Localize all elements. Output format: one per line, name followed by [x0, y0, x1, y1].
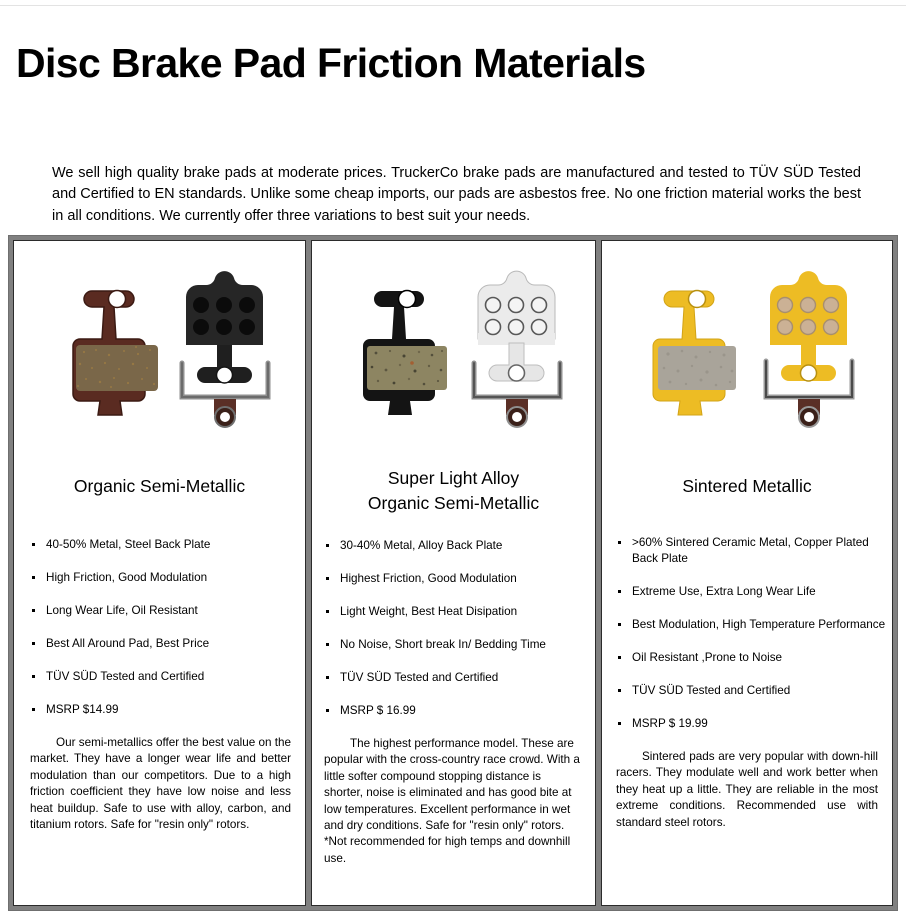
spec-item: 30-40% Metal, Alloy Back Plate [324, 538, 595, 554]
product-heading-line: Organic Semi-Metallic [14, 474, 305, 499]
brake-pad-illustration-sintered [602, 251, 892, 456]
product-card-sintered-metallic[interactable]: Sintered Metallic >60% Sintered Ceramic … [601, 240, 893, 906]
product-heading-line: Sintered Metallic [602, 474, 892, 499]
page-title: Disc Brake Pad Friction Materials [16, 39, 646, 87]
brake-pad-illustration-organic [14, 251, 305, 456]
spec-item: Best Modulation, High Temperature Perfor… [616, 617, 892, 633]
spec-item: Long Wear Life, Oil Resistant [30, 603, 305, 619]
product-description-sintered: Sintered pads are very popular with down… [616, 749, 878, 831]
product-heading-organic: Organic Semi-Metallic [14, 474, 305, 499]
product-heading-line: Organic Semi-Metallic [312, 491, 595, 516]
spec-item: Oil Resistant ,Prone to Noise [616, 650, 892, 666]
spec-item: Highest Friction, Good Modulation [324, 571, 595, 587]
product-card-organic-semi-metallic[interactable]: Organic Semi-Metallic 40-50% Metal, Stee… [13, 240, 306, 906]
spec-item-price: MSRP $ 19.99 [616, 716, 892, 732]
spec-item: Best All Around Pad, Best Price [30, 636, 305, 652]
spec-item: No Noise, Short break In/ Bedding Time [324, 637, 595, 653]
spec-item: TÜV SÜD Tested and Certified [324, 670, 595, 686]
super-light-alloy-brake-pad-photo [312, 251, 595, 456]
spec-list-sintered: >60% Sintered Ceramic Metal, Copper Plat… [616, 535, 892, 732]
spec-item: TÜV SÜD Tested and Certified [30, 669, 305, 685]
spec-item: 40-50% Metal, Steel Back Plate [30, 537, 305, 553]
spec-item: >60% Sintered Ceramic Metal, Copper Plat… [616, 535, 892, 567]
product-heading-sintered: Sintered Metallic [602, 474, 892, 499]
product-description-alloy: The highest performance model. These are… [324, 736, 583, 867]
spec-list-alloy: 30-40% Metal, Alloy Back Plate Highest F… [324, 538, 595, 719]
spec-item-price: MSRP $ 16.99 [324, 703, 595, 719]
intro-paragraph: We sell high quality brake pads at moder… [52, 163, 861, 228]
product-heading-line: Super Light Alloy [312, 466, 595, 491]
brake-pad-illustration-alloy [312, 251, 595, 456]
product-comparison-frame: Organic Semi-Metallic 40-50% Metal, Stee… [8, 235, 898, 911]
spec-item: High Friction, Good Modulation [30, 570, 305, 586]
product-heading-alloy: Super Light Alloy Organic Semi-Metallic [312, 466, 595, 516]
spec-item: Extreme Use, Extra Long Wear Life [616, 584, 892, 600]
organic-semi-metallic-brake-pad-photo [14, 251, 305, 456]
spec-list-organic: 40-50% Metal, Steel Back Plate High Fric… [30, 537, 305, 718]
sintered-metallic-brake-pad-photo [602, 251, 892, 456]
product-description-organic: Our semi-metallics offer the best value … [30, 735, 291, 833]
spec-item-price: MSRP $14.99 [30, 702, 305, 718]
spec-item: Light Weight, Best Heat Disipation [324, 604, 595, 620]
spec-item: TÜV SÜD Tested and Certified [616, 683, 892, 699]
product-card-super-light-alloy[interactable]: Super Light Alloy Organic Semi-Metallic … [311, 240, 596, 906]
top-divider [0, 5, 906, 6]
